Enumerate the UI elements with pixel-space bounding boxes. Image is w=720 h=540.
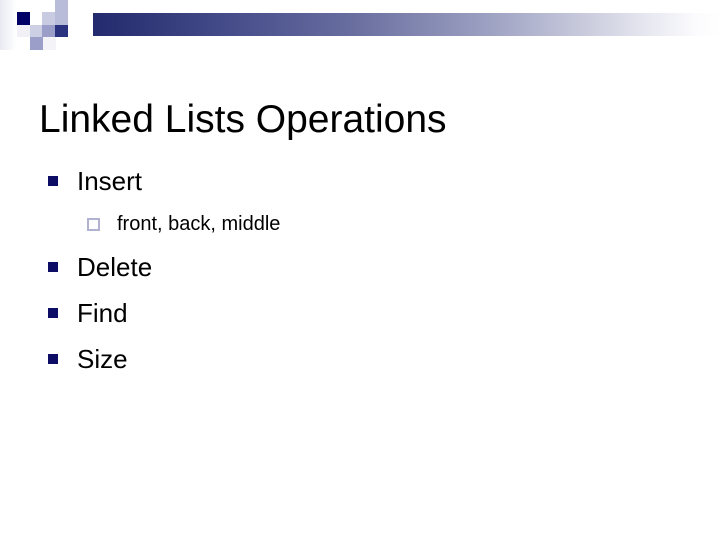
square-lavender-3 bbox=[30, 25, 42, 37]
square-lavender-top bbox=[55, 0, 68, 12]
square-pale-1 bbox=[30, 12, 42, 25]
square-lavender-1 bbox=[42, 12, 55, 25]
sub-list-item: front, back, middle bbox=[39, 204, 659, 244]
list-item: Find bbox=[39, 290, 659, 336]
header-gradient-bar bbox=[93, 13, 720, 36]
filled-square-bullet-icon bbox=[48, 354, 58, 364]
list-item: Delete bbox=[39, 244, 659, 290]
square-periwinkle-2 bbox=[30, 37, 43, 50]
list-item: Insert bbox=[39, 158, 659, 204]
sub-list-item-label: front, back, middle bbox=[117, 213, 280, 235]
filled-square-bullet-icon bbox=[48, 308, 58, 318]
square-periwinkle-1 bbox=[42, 25, 55, 37]
square-pale-top bbox=[42, 0, 55, 12]
hollow-square-bullet-icon bbox=[87, 218, 100, 231]
presentation-slide: Linked Lists Operations Insert front, ba… bbox=[0, 0, 720, 540]
square-faint-1 bbox=[43, 37, 56, 50]
square-faint-2 bbox=[17, 25, 30, 37]
slide-body-list: Insert front, back, middle Delete Find S… bbox=[39, 158, 659, 382]
list-item-label: Find bbox=[77, 298, 128, 328]
list-item: Size bbox=[39, 336, 659, 382]
square-lavender-2 bbox=[55, 12, 68, 25]
list-item-label: Insert bbox=[77, 166, 142, 196]
list-item-label: Delete bbox=[77, 252, 152, 282]
filled-square-bullet-icon bbox=[48, 262, 58, 272]
list-item-label: Size bbox=[77, 344, 128, 374]
page-title: Linked Lists Operations bbox=[39, 96, 679, 144]
filled-square-bullet-icon bbox=[48, 176, 58, 186]
slide-header-decoration bbox=[0, 0, 720, 50]
square-navy-mid bbox=[55, 25, 68, 37]
square-dark-navy bbox=[17, 12, 30, 25]
header-left-fade bbox=[0, 0, 16, 50]
